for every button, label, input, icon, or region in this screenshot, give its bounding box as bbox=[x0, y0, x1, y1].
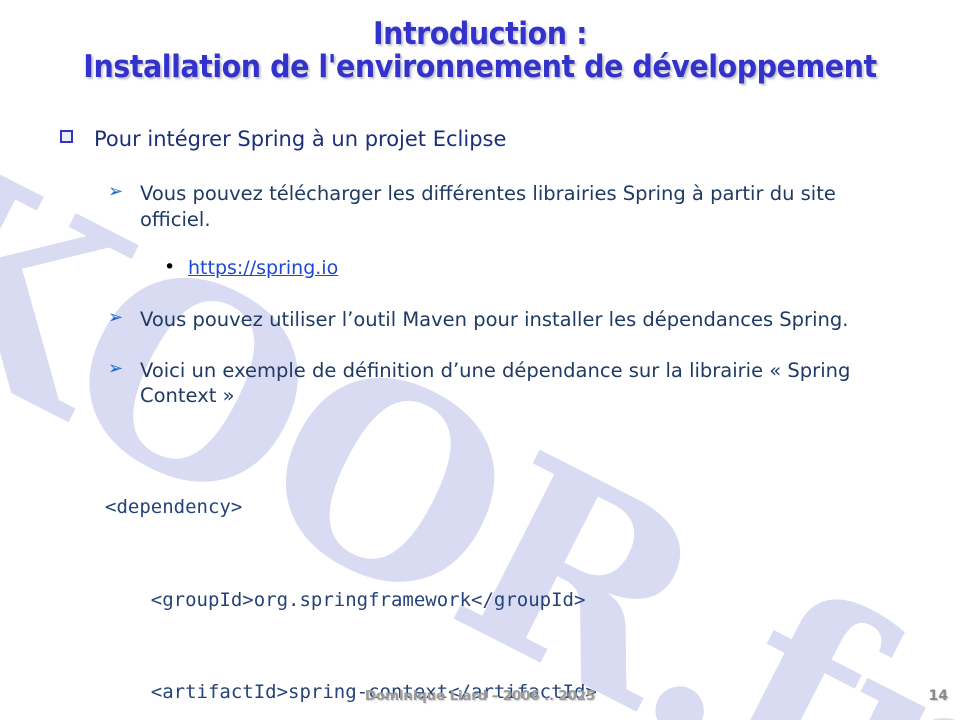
arrow-bullet-icon: ➢ bbox=[108, 356, 123, 381]
bullet-level1-eclipse: Pour intégrer Spring à un projet Eclipse bbox=[58, 126, 960, 153]
arrow-bullet-icon: ➢ bbox=[108, 305, 123, 330]
xml-code-block: <dependency> <groupId>org.springframewor… bbox=[105, 431, 960, 720]
footer-page-number: 14 bbox=[929, 688, 948, 704]
dot-bullet-icon: • bbox=[164, 255, 175, 280]
slide-footer: Dominique Liard – 2006 .. 2025 14 bbox=[0, 688, 960, 712]
slide: KOOR.fr Introduction : Installation de l… bbox=[0, 0, 960, 720]
bullet-level1-label: Pour intégrer Spring à un projet Eclipse bbox=[94, 127, 506, 151]
spacer bbox=[0, 153, 960, 181]
slide-body: Pour intégrer Spring à un projet Eclipse… bbox=[0, 112, 960, 720]
spacer bbox=[0, 409, 960, 431]
bullet-level2-example: ➢ Voici un exemple de définition d’une d… bbox=[108, 358, 900, 409]
spacer bbox=[0, 232, 960, 256]
square-bullet-icon bbox=[60, 130, 73, 143]
code-line-indented: <groupId>org.springframework</groupId> bbox=[105, 585, 960, 616]
spacer bbox=[0, 332, 960, 358]
code-line: <groupId>org.springframework</groupId> bbox=[151, 589, 586, 611]
footer-author-copyright: Dominique Liard – 2006 .. 2025 bbox=[0, 688, 960, 704]
code-line: <dependency> bbox=[105, 492, 960, 523]
slide-title-line-1: Introduction : bbox=[38, 18, 921, 51]
bullet-level2-maven: ➢ Vous pouvez utiliser l’outil Maven pou… bbox=[108, 307, 900, 332]
bullet-level2-label: Voici un exemple de définition d’une dép… bbox=[140, 359, 850, 407]
arrow-bullet-icon: ➢ bbox=[108, 179, 123, 204]
bullet-level3-spring-link: • https://spring.io bbox=[160, 256, 960, 281]
spacer bbox=[0, 281, 960, 307]
slide-title-block: Introduction : Installation de l'environ… bbox=[0, 18, 960, 85]
bullet-level2-label: Vous pouvez utiliser l’outil Maven pour … bbox=[140, 308, 848, 331]
spring-io-link[interactable]: https://spring.io bbox=[188, 257, 338, 279]
bullet-level2-label: Vous pouvez télécharger les différentes … bbox=[140, 182, 836, 230]
bullet-level2-download: ➢ Vous pouvez télécharger les différente… bbox=[108, 181, 900, 232]
slide-title-line-2: Installation de l'environnement de dével… bbox=[38, 51, 921, 84]
